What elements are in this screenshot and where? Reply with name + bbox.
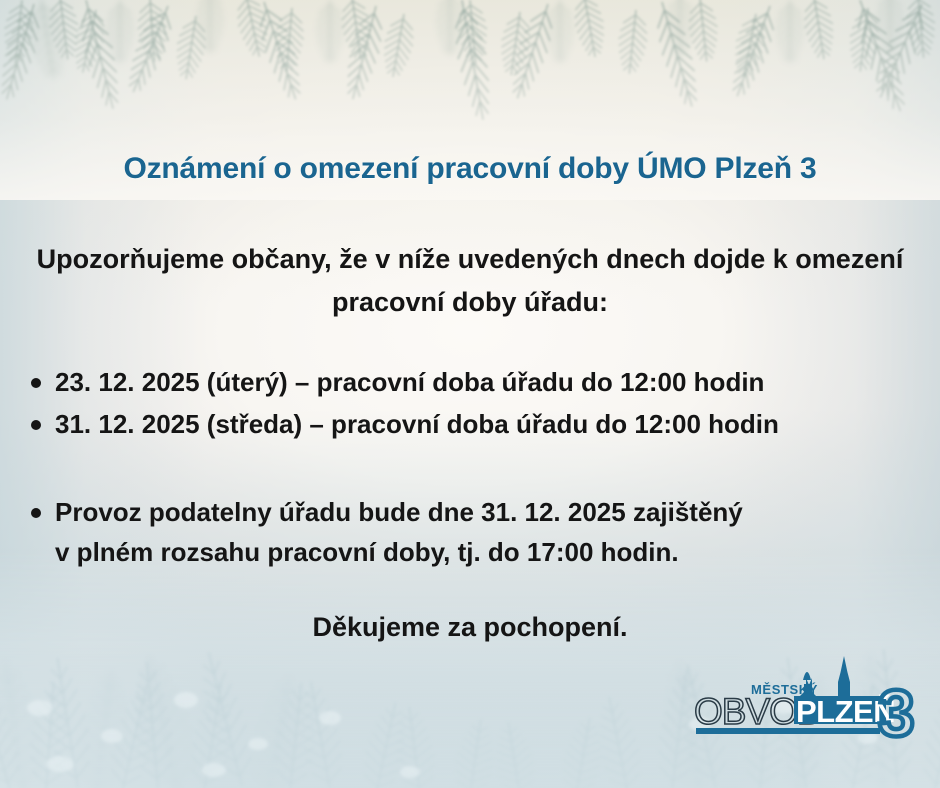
bullet-dot-icon	[31, 508, 41, 518]
logo-number-three: 3	[878, 676, 915, 750]
mailroom-bullet-list: Provoz podatelny úřadu bude dne 31. 12. …	[28, 492, 928, 574]
bullet-dot-icon	[31, 420, 41, 430]
list-item-label: 31. 12. 2025 (středa) – pracovní doba úř…	[55, 404, 928, 444]
list-item: 31. 12. 2025 (středa) – pracovní doba úř…	[28, 404, 928, 444]
bullet-dot-icon	[31, 378, 41, 388]
list-item: Provoz podatelny úřadu bude dne 31. 12. …	[28, 492, 928, 572]
date-bullet-list: 23. 12. 2025 (úterý) – pracovní doba úřa…	[28, 362, 928, 446]
closing-thanks-text: Děkujeme za pochopení.	[0, 612, 940, 643]
page-title: Oznámení o omezení pracovní doby ÚMO Plz…	[0, 152, 940, 186]
umo-plzen-3-logo: MĚSTSKÝ OBVOD PLZEŇ 3	[692, 648, 922, 750]
list-item: 23. 12. 2025 (úterý) – pracovní doba úřa…	[28, 362, 928, 402]
list-item-label: 23. 12. 2025 (úterý) – pracovní doba úřa…	[55, 362, 928, 402]
list-item-label: Provoz podatelny úřadu bude dne 31. 12. …	[55, 492, 928, 572]
logo-underline-bar	[696, 728, 880, 734]
poster-content: Oznámení o omezení pracovní doby ÚMO Plz…	[0, 0, 940, 788]
intro-paragraph: Upozorňujeme občany, že v níže uvedených…	[26, 238, 914, 324]
poster-canvas: Oznámení o omezení pracovní doby ÚMO Plz…	[0, 0, 940, 788]
